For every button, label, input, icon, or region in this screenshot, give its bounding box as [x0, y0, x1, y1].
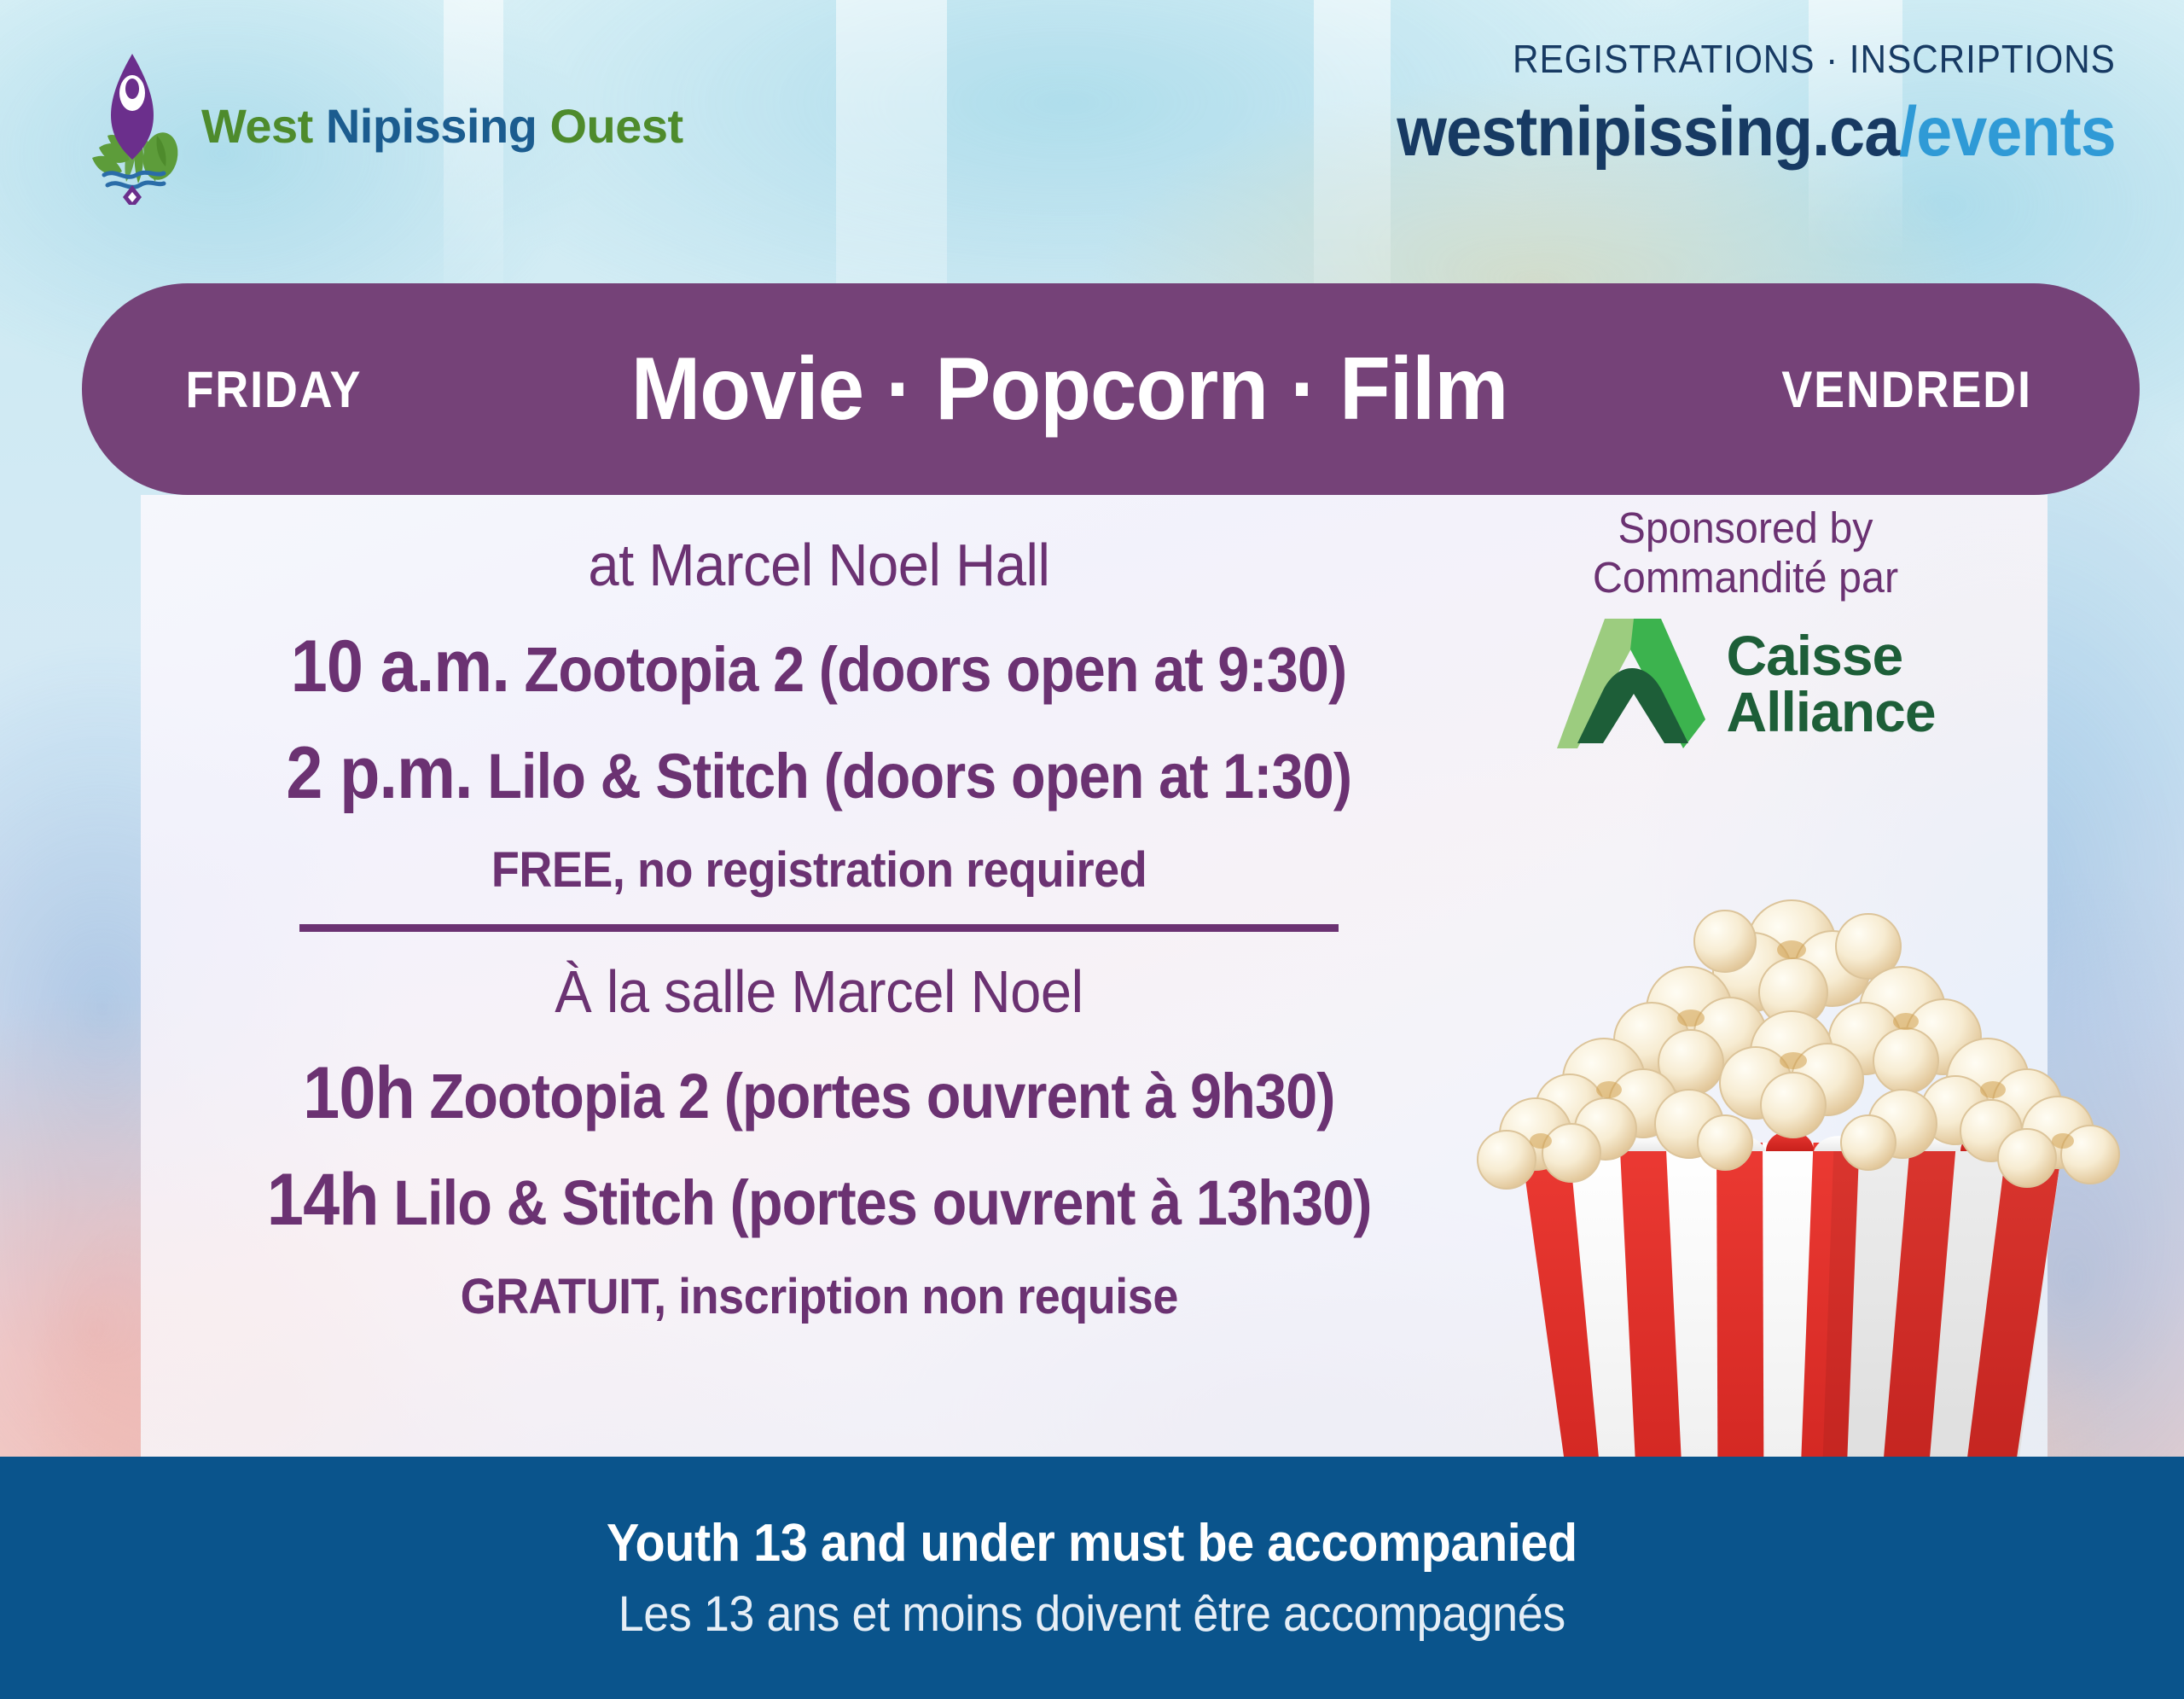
- footer-notice-english: Youth 13 and under must be accompanied: [607, 1513, 1577, 1574]
- venue-french: À la salle Marcel Noel: [555, 957, 1083, 1026]
- footer-notice-french: Les 13 ans et moins doivent être accompa…: [619, 1586, 1565, 1643]
- sponsor-label-english: Sponsored by: [1502, 503, 1989, 553]
- showing-english-2: 2 p.m. Lilo & Stitch (doors open at 1:30…: [287, 731, 1352, 816]
- west-nipissing-flame-leaf-emblem-icon: [82, 47, 183, 205]
- sponsor-name-line-1: Caisse: [1726, 627, 1935, 684]
- organization-logo: West Nipissing Ouest: [82, 47, 683, 205]
- poster-footer: Youth 13 and under must be accompanied L…: [0, 1457, 2184, 1699]
- banner-event-title: Movie · Popcorn · Film: [631, 339, 1508, 440]
- showing-english-1: 10 a.m. Zootopia 2 (doors open at 9:30): [291, 625, 1347, 709]
- showing-french-1: 10h Zootopia 2 (portes ouvrent à 9h30): [303, 1051, 1334, 1136]
- sponsor-label-french: Commandité par: [1502, 553, 1989, 602]
- bilingual-details: at Marcel Noel Hall 10 a.m. Zootopia 2 (…: [141, 495, 1497, 1457]
- caisse-alliance-chevron-logo-icon: [1555, 615, 1709, 752]
- price-note-french: GRATUIT, inscription non requise: [460, 1268, 1177, 1325]
- sponsor-name: Caisse Alliance: [1726, 627, 1935, 740]
- sponsor-block: Sponsored by Commandité par Caisse Allia…: [1490, 503, 2001, 752]
- showing-time: 10h: [303, 1052, 415, 1134]
- event-poster: West Nipissing Ouest REGISTRATIONS · INS…: [0, 0, 2184, 1699]
- showing-time: 14h: [267, 1159, 379, 1241]
- sponsor-name-line-2: Alliance: [1726, 684, 1935, 740]
- section-divider: [299, 924, 1339, 932]
- registration-url[interactable]: westnipissing.ca/events: [1397, 92, 2116, 172]
- url-path: /events: [1899, 93, 2116, 171]
- showing-time: 10 a.m.: [291, 625, 509, 707]
- logo-word-ouest: Ouest: [549, 99, 682, 153]
- showing-movie: Lilo & Stitch (portes ouvrent à 13h30): [378, 1167, 1371, 1238]
- banner-day-french: VENDREDI: [1781, 360, 2031, 419]
- url-domain: westnipissing.ca: [1397, 93, 1899, 171]
- registration-info: REGISTRATIONS · INSCRIPTIONS westnipissi…: [1334, 36, 2116, 172]
- logo-word-west: West: [201, 99, 313, 153]
- poster-header: West Nipissing Ouest REGISTRATIONS · INS…: [0, 0, 2184, 283]
- sponsor-logo: Caisse Alliance: [1490, 615, 2001, 752]
- showing-french-2: 14h Lilo & Stitch (portes ouvrent à 13h3…: [267, 1158, 1372, 1242]
- showing-time: 2 p.m.: [287, 732, 473, 814]
- logo-word-nipissing: Nipissing: [326, 99, 537, 153]
- organization-name: West Nipissing Ouest: [201, 98, 683, 154]
- venue-english: at Marcel Noel Hall: [588, 531, 1049, 599]
- showing-movie: Zootopia 2 (doors open at 9:30): [509, 634, 1346, 705]
- showing-movie: Lilo & Stitch (doors open at 1:30): [473, 741, 1351, 812]
- price-note-english: FREE, no registration required: [491, 841, 1147, 899]
- event-title-banner: FRIDAY Movie · Popcorn · Film VENDREDI: [82, 283, 2140, 495]
- registrations-label: REGISTRATIONS · INSCRIPTIONS: [1397, 36, 2116, 82]
- showing-movie: Zootopia 2 (portes ouvrent à 9h30): [415, 1061, 1335, 1132]
- banner-day-english: FRIDAY: [185, 360, 362, 419]
